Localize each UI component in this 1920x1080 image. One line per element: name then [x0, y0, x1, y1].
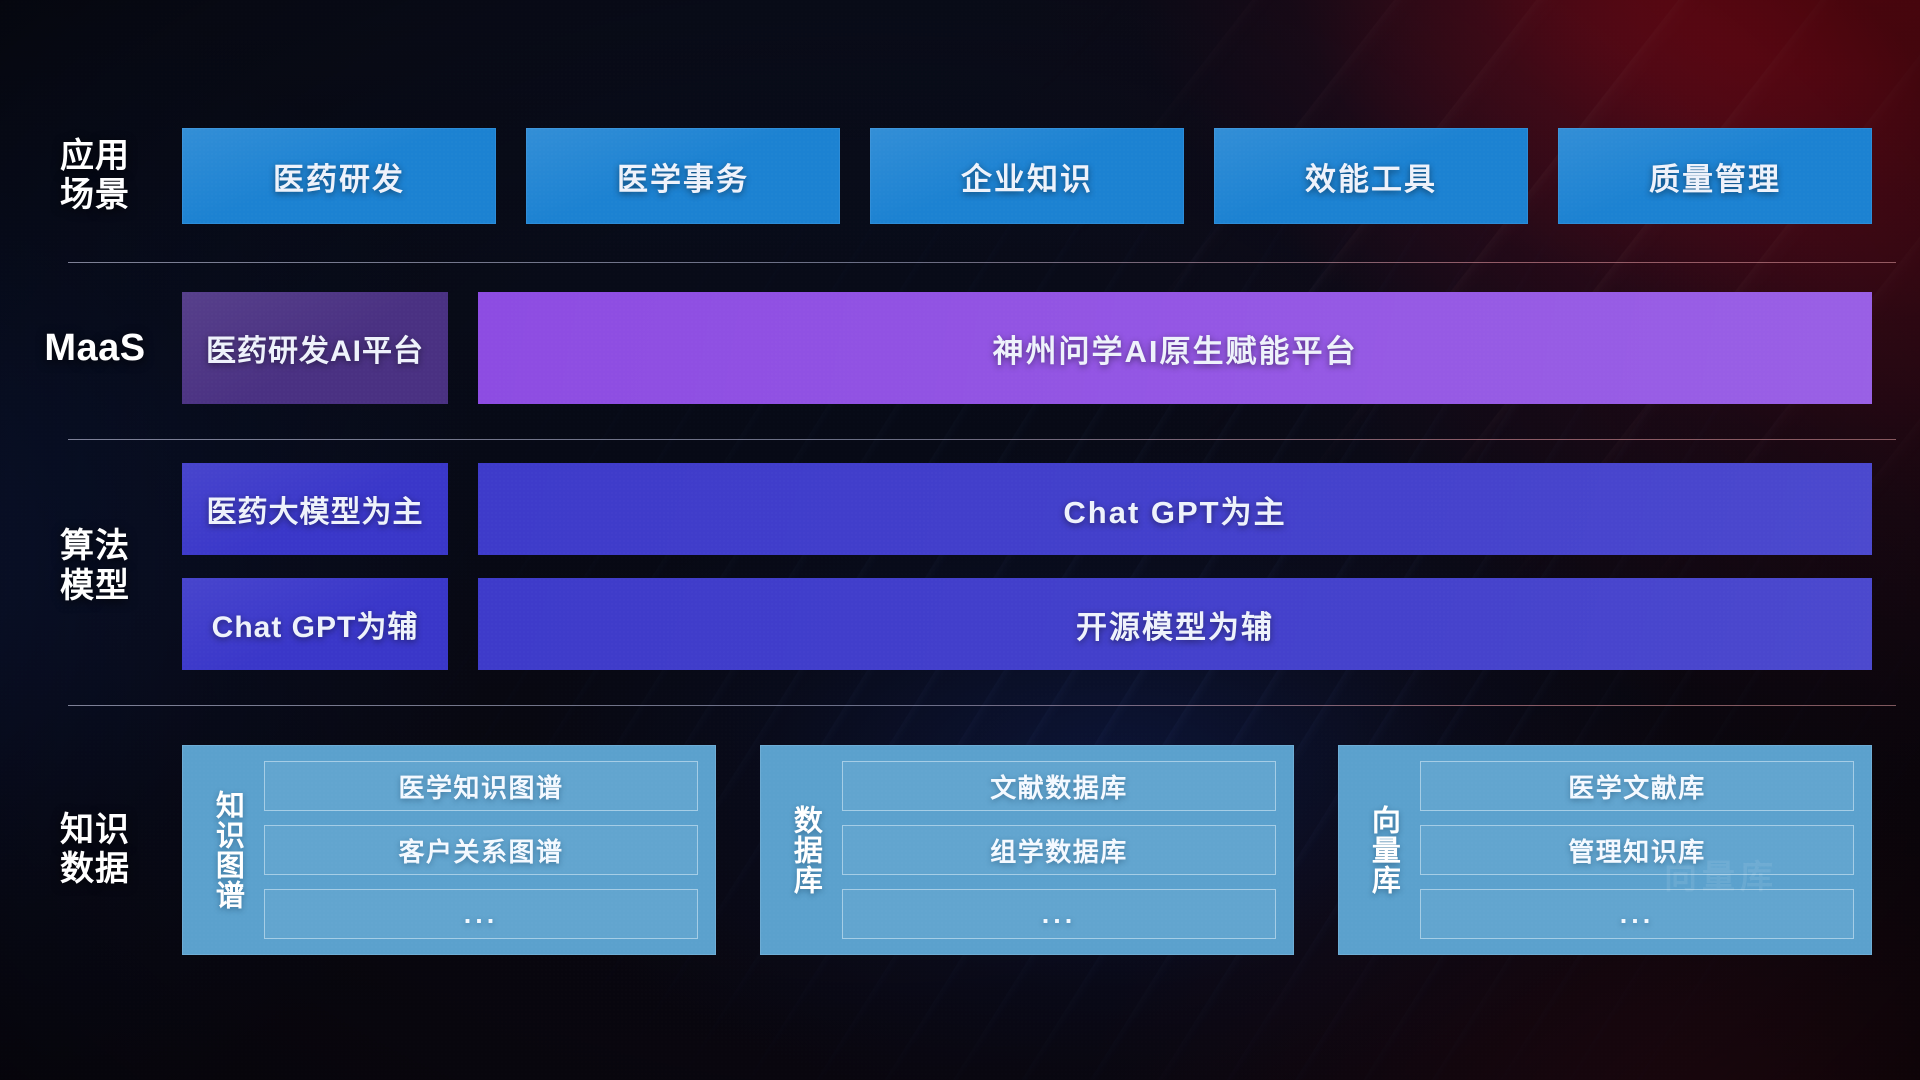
- maas-box-shenzhou-wenxue-platform-label: 神州问学AI原生赋能平台: [993, 326, 1358, 371]
- algorithm-line-secondary: Chat GPT为辅 开源模型为辅: [182, 578, 1872, 670]
- app-box-quality-management[interactable]: 质量管理: [1558, 128, 1872, 224]
- knowledge-group-vector-store[interactable]: 向量库 医学文献库 管理知识库 ...: [1338, 745, 1872, 955]
- knowledge-item-more-database[interactable]: ...: [842, 889, 1276, 939]
- row-label-maas: MaaS: [0, 326, 182, 370]
- knowledge-data-groups: 知识图谱 医学知识图谱 客户关系图谱 ... 数据库 文献数据库 组学数据库 .…: [182, 745, 1920, 955]
- app-box-enterprise-knowledge-label: 企业知识: [961, 154, 1093, 199]
- app-box-efficiency-tools[interactable]: 效能工具: [1214, 128, 1528, 224]
- knowledge-group-database-title: 数据库: [774, 761, 836, 939]
- knowledge-item-management-knowledge-store[interactable]: 管理知识库: [1420, 825, 1854, 875]
- application-scenario-boxes: 医药研发 医学事务 企业知识 效能工具 质量管理: [182, 128, 1920, 224]
- algo-box-chatgpt-primary[interactable]: Chat GPT为主: [478, 463, 1872, 555]
- knowledge-item-more-vector-store[interactable]: ...: [1420, 889, 1854, 939]
- knowledge-item-more-knowledge-graph[interactable]: ...: [264, 889, 698, 939]
- knowledge-item-medical-literature-store[interactable]: 医学文献库: [1420, 761, 1854, 811]
- app-box-efficiency-tools-label: 效能工具: [1305, 154, 1437, 199]
- algo-box-opensource-secondary-label: 开源模型为辅: [1076, 602, 1274, 647]
- knowledge-group-knowledge-graph[interactable]: 知识图谱 医学知识图谱 客户关系图谱 ...: [182, 745, 716, 955]
- architecture-diagram: 应用 场景 医药研发 医学事务 企业知识 效能工具 质量管理 MaaS 医药研发…: [0, 0, 1920, 1080]
- knowledge-item-customer-relation-graph[interactable]: 客户关系图谱: [264, 825, 698, 875]
- knowledge-group-database[interactable]: 数据库 文献数据库 组学数据库 ...: [760, 745, 1294, 955]
- app-box-medical-affairs-label: 医学事务: [617, 154, 749, 199]
- algo-box-chatgpt-secondary[interactable]: Chat GPT为辅: [182, 578, 448, 670]
- app-box-enterprise-knowledge[interactable]: 企业知识: [870, 128, 1184, 224]
- app-box-medical-affairs[interactable]: 医学事务: [526, 128, 840, 224]
- knowledge-group-knowledge-graph-items: 医学知识图谱 客户关系图谱 ...: [258, 761, 698, 939]
- maas-box-drug-rd-ai-platform[interactable]: 医药研发AI平台: [182, 292, 448, 404]
- knowledge-item-literature-database[interactable]: 文献数据库: [842, 761, 1276, 811]
- knowledge-group-vector-store-items: 医学文献库 管理知识库 ...: [1414, 761, 1854, 939]
- algorithm-line-primary: 医药大模型为主 Chat GPT为主: [182, 463, 1872, 555]
- row-label-algorithm-models: 算法 模型: [0, 527, 182, 606]
- algo-box-pharma-llm-primary[interactable]: 医药大模型为主: [182, 463, 448, 555]
- row-label-knowledge-data: 知识 数据: [0, 811, 182, 890]
- row-knowledge-data: 知识 数据 知识图谱 医学知识图谱 客户关系图谱 ... 数据库 文献数据库 组…: [0, 730, 1920, 970]
- app-box-quality-management-label: 质量管理: [1649, 154, 1781, 199]
- algo-box-pharma-llm-primary-label: 医药大模型为主: [207, 487, 424, 531]
- divider-after-algorithm-models: [68, 705, 1896, 706]
- knowledge-group-knowledge-graph-title: 知识图谱: [196, 761, 258, 939]
- divider-after-maas: [68, 439, 1896, 440]
- knowledge-item-omics-database[interactable]: 组学数据库: [842, 825, 1276, 875]
- app-box-drug-rd-label: 医药研发: [273, 154, 405, 199]
- row-maas: MaaS 医药研发AI平台 神州问学AI原生赋能平台: [0, 292, 1920, 404]
- slide-canvas: 向量库 应用 场景 医药研发 医学事务 企业知识 效能工具 质量管理 MaaS …: [0, 0, 1920, 1080]
- algorithm-model-boxes: 医药大模型为主 Chat GPT为主 Chat GPT为辅 开源模型为辅: [182, 463, 1920, 670]
- row-label-application-scenarios: 应用 场景: [0, 137, 182, 216]
- maas-boxes: 医药研发AI平台 神州问学AI原生赋能平台: [182, 292, 1920, 404]
- algo-box-chatgpt-secondary-label: Chat GPT为辅: [212, 602, 419, 646]
- row-application-scenarios: 应用 场景 医药研发 医学事务 企业知识 效能工具 质量管理: [0, 128, 1920, 224]
- algo-box-opensource-secondary[interactable]: 开源模型为辅: [478, 578, 1872, 670]
- knowledge-group-database-items: 文献数据库 组学数据库 ...: [836, 761, 1276, 939]
- row-algorithm-models: 算法 模型 医药大模型为主 Chat GPT为主 Chat GPT为辅 开源模型…: [0, 463, 1920, 670]
- knowledge-group-vector-store-title: 向量库: [1352, 761, 1414, 939]
- maas-box-shenzhou-wenxue-platform[interactable]: 神州问学AI原生赋能平台: [478, 292, 1872, 404]
- algo-box-chatgpt-primary-label: Chat GPT为主: [1063, 487, 1286, 532]
- maas-box-drug-rd-ai-platform-label: 医药研发AI平台: [206, 326, 424, 370]
- algorithm-stack: 医药大模型为主 Chat GPT为主 Chat GPT为辅 开源模型为辅: [182, 463, 1872, 670]
- app-box-drug-rd[interactable]: 医药研发: [182, 128, 496, 224]
- divider-after-application-scenarios: [68, 262, 1896, 263]
- knowledge-item-medical-knowledge-graph[interactable]: 医学知识图谱: [264, 761, 698, 811]
